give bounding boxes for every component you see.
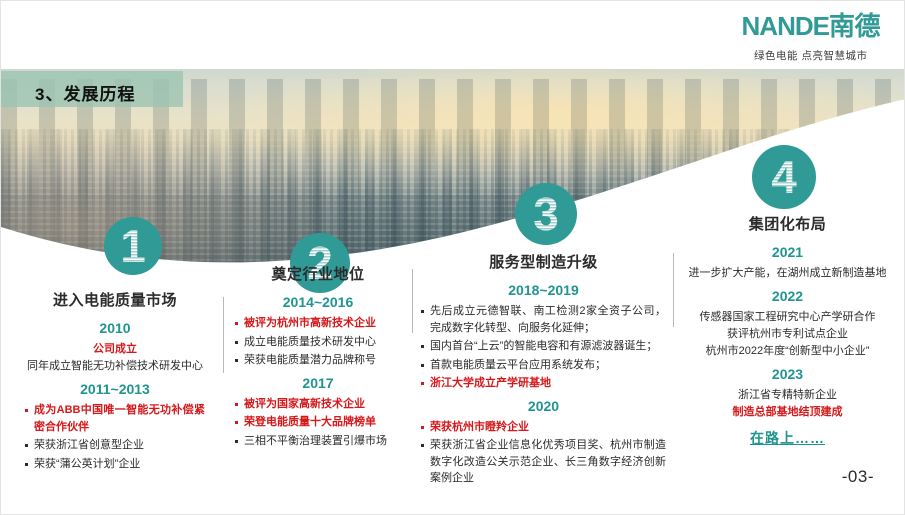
slide-canvas: 一、集团概况 Company Introduction NANDE南德 绿色电能…	[0, 0, 905, 515]
timeline-entry: 进一步扩大产能，在湖州成立新制造基地	[685, 265, 890, 282]
timeline-node-3-number: 3	[533, 191, 559, 237]
timeline-year-label: 2023	[685, 366, 890, 382]
timeline-entry: 同年成立智能无功补偿技术研发中心	[25, 358, 205, 375]
timeline-column-4-title: 集团化布局	[685, 213, 890, 234]
timeline-column-1-title: 进入电能质量市场	[25, 289, 205, 310]
logo-cjk: 南德	[829, 11, 880, 41]
timeline-entry: 浙江省专精特新企业	[685, 387, 890, 404]
timeline-column-2: 奠定行业地位2014~2016被评为杭州市高新技术企业成立电能质量技术研发中心荣…	[235, 263, 401, 451]
section-banner-label: 3、发展历程	[35, 80, 135, 105]
timeline-year-label: 2020	[421, 398, 666, 414]
timeline-entry-list: 成为ABB中国唯一智能无功补偿紧密合作伙伴荣获浙江省创意型企业荣获“蒲公英计划”…	[25, 402, 205, 472]
logo-tagline: 绿色电能 点亮智慧城市	[742, 48, 880, 63]
timeline-entry: 浙江大学成立产学研基地	[421, 375, 666, 392]
column-divider-1	[223, 297, 224, 373]
timeline-entry-list: 先后成立元德智联、南工检测2家全资子公司，完成数字化转型、向服务化延伸；国内首台…	[421, 303, 666, 392]
timeline-entry: 先后成立元德智联、南工检测2家全资子公司，完成数字化转型、向服务化延伸；	[421, 303, 666, 336]
column-divider-3	[673, 253, 674, 327]
timeline-column-3: 服务型制造升级2018~2019先后成立元德智联、南工检测2家全资子公司，完成数…	[421, 251, 666, 489]
timeline-year-label: 2022	[685, 288, 890, 304]
timeline-entry-list: 荣获杭州市瞪羚企业荣获浙江省企业信息化优秀项目奖、杭州市制造数字化改造公关示范企…	[421, 419, 666, 487]
timeline-entry: 荣获浙江省企业信息化优秀项目奖、杭州市制造数字化改造公关示范企业、长三角数字经济…	[421, 437, 666, 487]
timeline-entry: 荣登电能质量十大品牌榜单	[235, 414, 401, 431]
timeline-entry: 荣获浙江省创意型企业	[25, 437, 205, 454]
timeline-column-4: 集团化布局2021进一步扩大产能，在湖州成立新制造基地2022传感器国家工程研究…	[685, 213, 890, 448]
timeline-entry: 传感器国家工程研究中心产学研合作	[685, 309, 890, 326]
column-divider-2	[412, 269, 413, 333]
logo-wordmark: NANDE南德	[742, 13, 880, 39]
timeline-year-label: 2018~2019	[421, 282, 666, 298]
timeline-entry: 公司成立	[25, 341, 205, 358]
timeline-entry: 杭州市2022年度“创新型中小企业”	[685, 343, 890, 360]
timeline-entry: 国内首台“上云”的智能电容和有源滤波器诞生；	[421, 338, 666, 355]
timeline-year-label: 2011~2013	[25, 381, 205, 397]
logo-latin: NANDE	[742, 11, 829, 41]
brand-logo: NANDE南德 绿色电能 点亮智慧城市	[742, 13, 880, 63]
timeline-entry: 首款电能质量云平台应用系统发布；	[421, 357, 666, 374]
timeline-entry: 被评为杭州市高新技术企业	[235, 315, 401, 332]
timeline-node-1-number: 1	[120, 223, 146, 269]
timeline-entry: 获评杭州市专利试点企业	[685, 326, 890, 343]
timeline-column-3-title: 服务型制造升级	[421, 251, 666, 272]
page-number: -03-	[842, 467, 874, 487]
timeline-year-label: 2021	[685, 244, 890, 260]
timeline-entry: 制造总部基地结顶建成	[685, 404, 890, 421]
timeline-year-label: 2010	[25, 320, 205, 336]
timeline-year-label: 2014~2016	[235, 294, 401, 310]
timeline-entry: 被评为国家高新技术企业	[235, 396, 401, 413]
timeline-footer-note: 在路上……	[685, 428, 890, 448]
timeline-entry: 荣获杭州市瞪羚企业	[421, 419, 666, 436]
timeline-entry: 荣获电能质量潜力品牌称号	[235, 352, 401, 369]
timeline-column-2-title: 奠定行业地位	[235, 263, 401, 284]
timeline-entry-list: 被评为国家高新技术企业荣登电能质量十大品牌榜单三相不平衡治理装置引爆市场	[235, 396, 401, 450]
timeline-entry: 荣获“蒲公英计划”企业	[25, 456, 205, 473]
timeline-node-1[interactable]: 1	[104, 217, 162, 275]
timeline-entry: 成为ABB中国唯一智能无功补偿紧密合作伙伴	[25, 402, 205, 435]
timeline-node-3[interactable]: 3	[515, 183, 577, 245]
timeline-node-4[interactable]: 4	[752, 145, 816, 209]
timeline-entry: 成立电能质量技术研发中心	[235, 334, 401, 351]
timeline-entry: 三相不平衡治理装置引爆市场	[235, 433, 401, 450]
timeline-year-label: 2017	[235, 375, 401, 391]
timeline-column-1: 进入电能质量市场2010公司成立同年成立智能无功补偿技术研发中心2011~201…	[25, 289, 205, 474]
timeline-entry-list: 被评为杭州市高新技术企业成立电能质量技术研发中心荣获电能质量潜力品牌称号	[235, 315, 401, 369]
timeline-node-4-number: 4	[771, 154, 797, 200]
